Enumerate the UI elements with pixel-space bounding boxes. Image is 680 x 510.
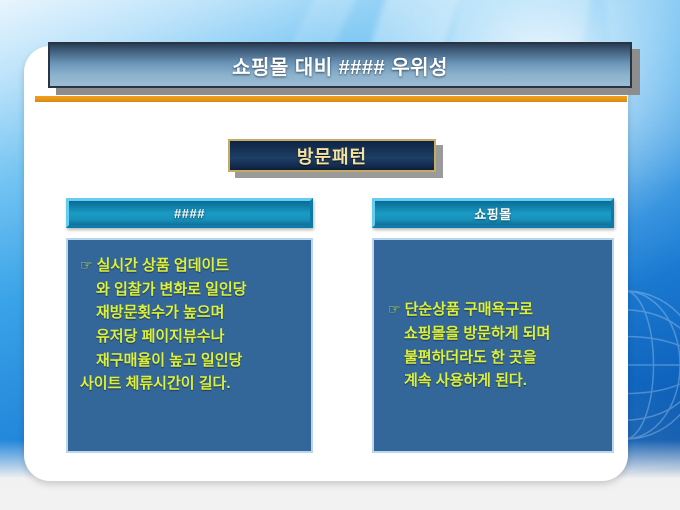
- column-right-header-label: 쇼핑몰: [474, 204, 511, 223]
- pointing-hand-icon: ☞: [80, 258, 93, 272]
- column-left-bullet: ☞실시간 상품 업데이트 와 입찰가 변화로 일인당 재방문횟수가 높으며 유저…: [78, 254, 301, 396]
- bullet-line: 와 입찰가 변화로 일인당: [80, 278, 301, 302]
- orange-divider: [35, 96, 627, 102]
- section-header-box: 방문패턴: [228, 139, 436, 172]
- bullet-line: 실시간 상품 업데이트: [97, 257, 230, 274]
- column-right-body: ☞단순상품 구매욕구로 쇼핑몰을 방문하게 되며 불편하더라도 한 곳을 계속 …: [372, 238, 614, 453]
- column-right-bullet: ☞단순상품 구매욕구로 쇼핑몰을 방문하게 되며 불편하더라도 한 곳을 계속 …: [384, 298, 550, 393]
- pointing-hand-icon: ☞: [388, 302, 401, 316]
- column-right: 쇼핑몰 ☞단순상품 구매욕구로 쇼핑몰을 방문하게 되며 불편하더라도 한 곳을…: [372, 198, 614, 453]
- bullet-line: 불편하더라도 한 곳을: [388, 346, 550, 370]
- section-header: 방문패턴: [228, 139, 436, 172]
- bullet-line: 쇼핑몰을 방문하게 되며: [388, 322, 550, 346]
- column-left-header: ####: [66, 198, 313, 228]
- bullet-line: 유저당 페이지뷰수나: [80, 325, 301, 349]
- slide-title-bar: 쇼핑몰 대비 #### 우위성: [48, 42, 632, 88]
- bullet-line: 재방문횟수가 높으며: [80, 301, 301, 325]
- bullet-line: 계속 사용하게 된다.: [388, 369, 550, 393]
- title-bar-box: 쇼핑몰 대비 #### 우위성: [48, 42, 632, 88]
- column-left-header-label: ####: [174, 206, 205, 221]
- bullet-line: 단순상품 구매욕구로: [405, 301, 533, 318]
- page-title: 쇼핑몰 대비 #### 우위성: [232, 51, 448, 80]
- bullet-line: 사이트 체류시간이 길다.: [80, 372, 301, 396]
- slide: 쇼핑몰 대비 #### 우위성 방문패턴 #### ☞실시간 상품 업데이트 와…: [0, 0, 680, 510]
- column-left-body: ☞실시간 상품 업데이트 와 입찰가 변화로 일인당 재방문횟수가 높으며 유저…: [66, 238, 313, 453]
- bullet-line: 재구매율이 높고 일인당: [80, 349, 301, 373]
- column-right-header: 쇼핑몰: [372, 198, 614, 228]
- section-header-label: 방문패턴: [297, 143, 367, 169]
- column-left: #### ☞실시간 상품 업데이트 와 입찰가 변화로 일인당 재방문횟수가 높…: [66, 198, 313, 453]
